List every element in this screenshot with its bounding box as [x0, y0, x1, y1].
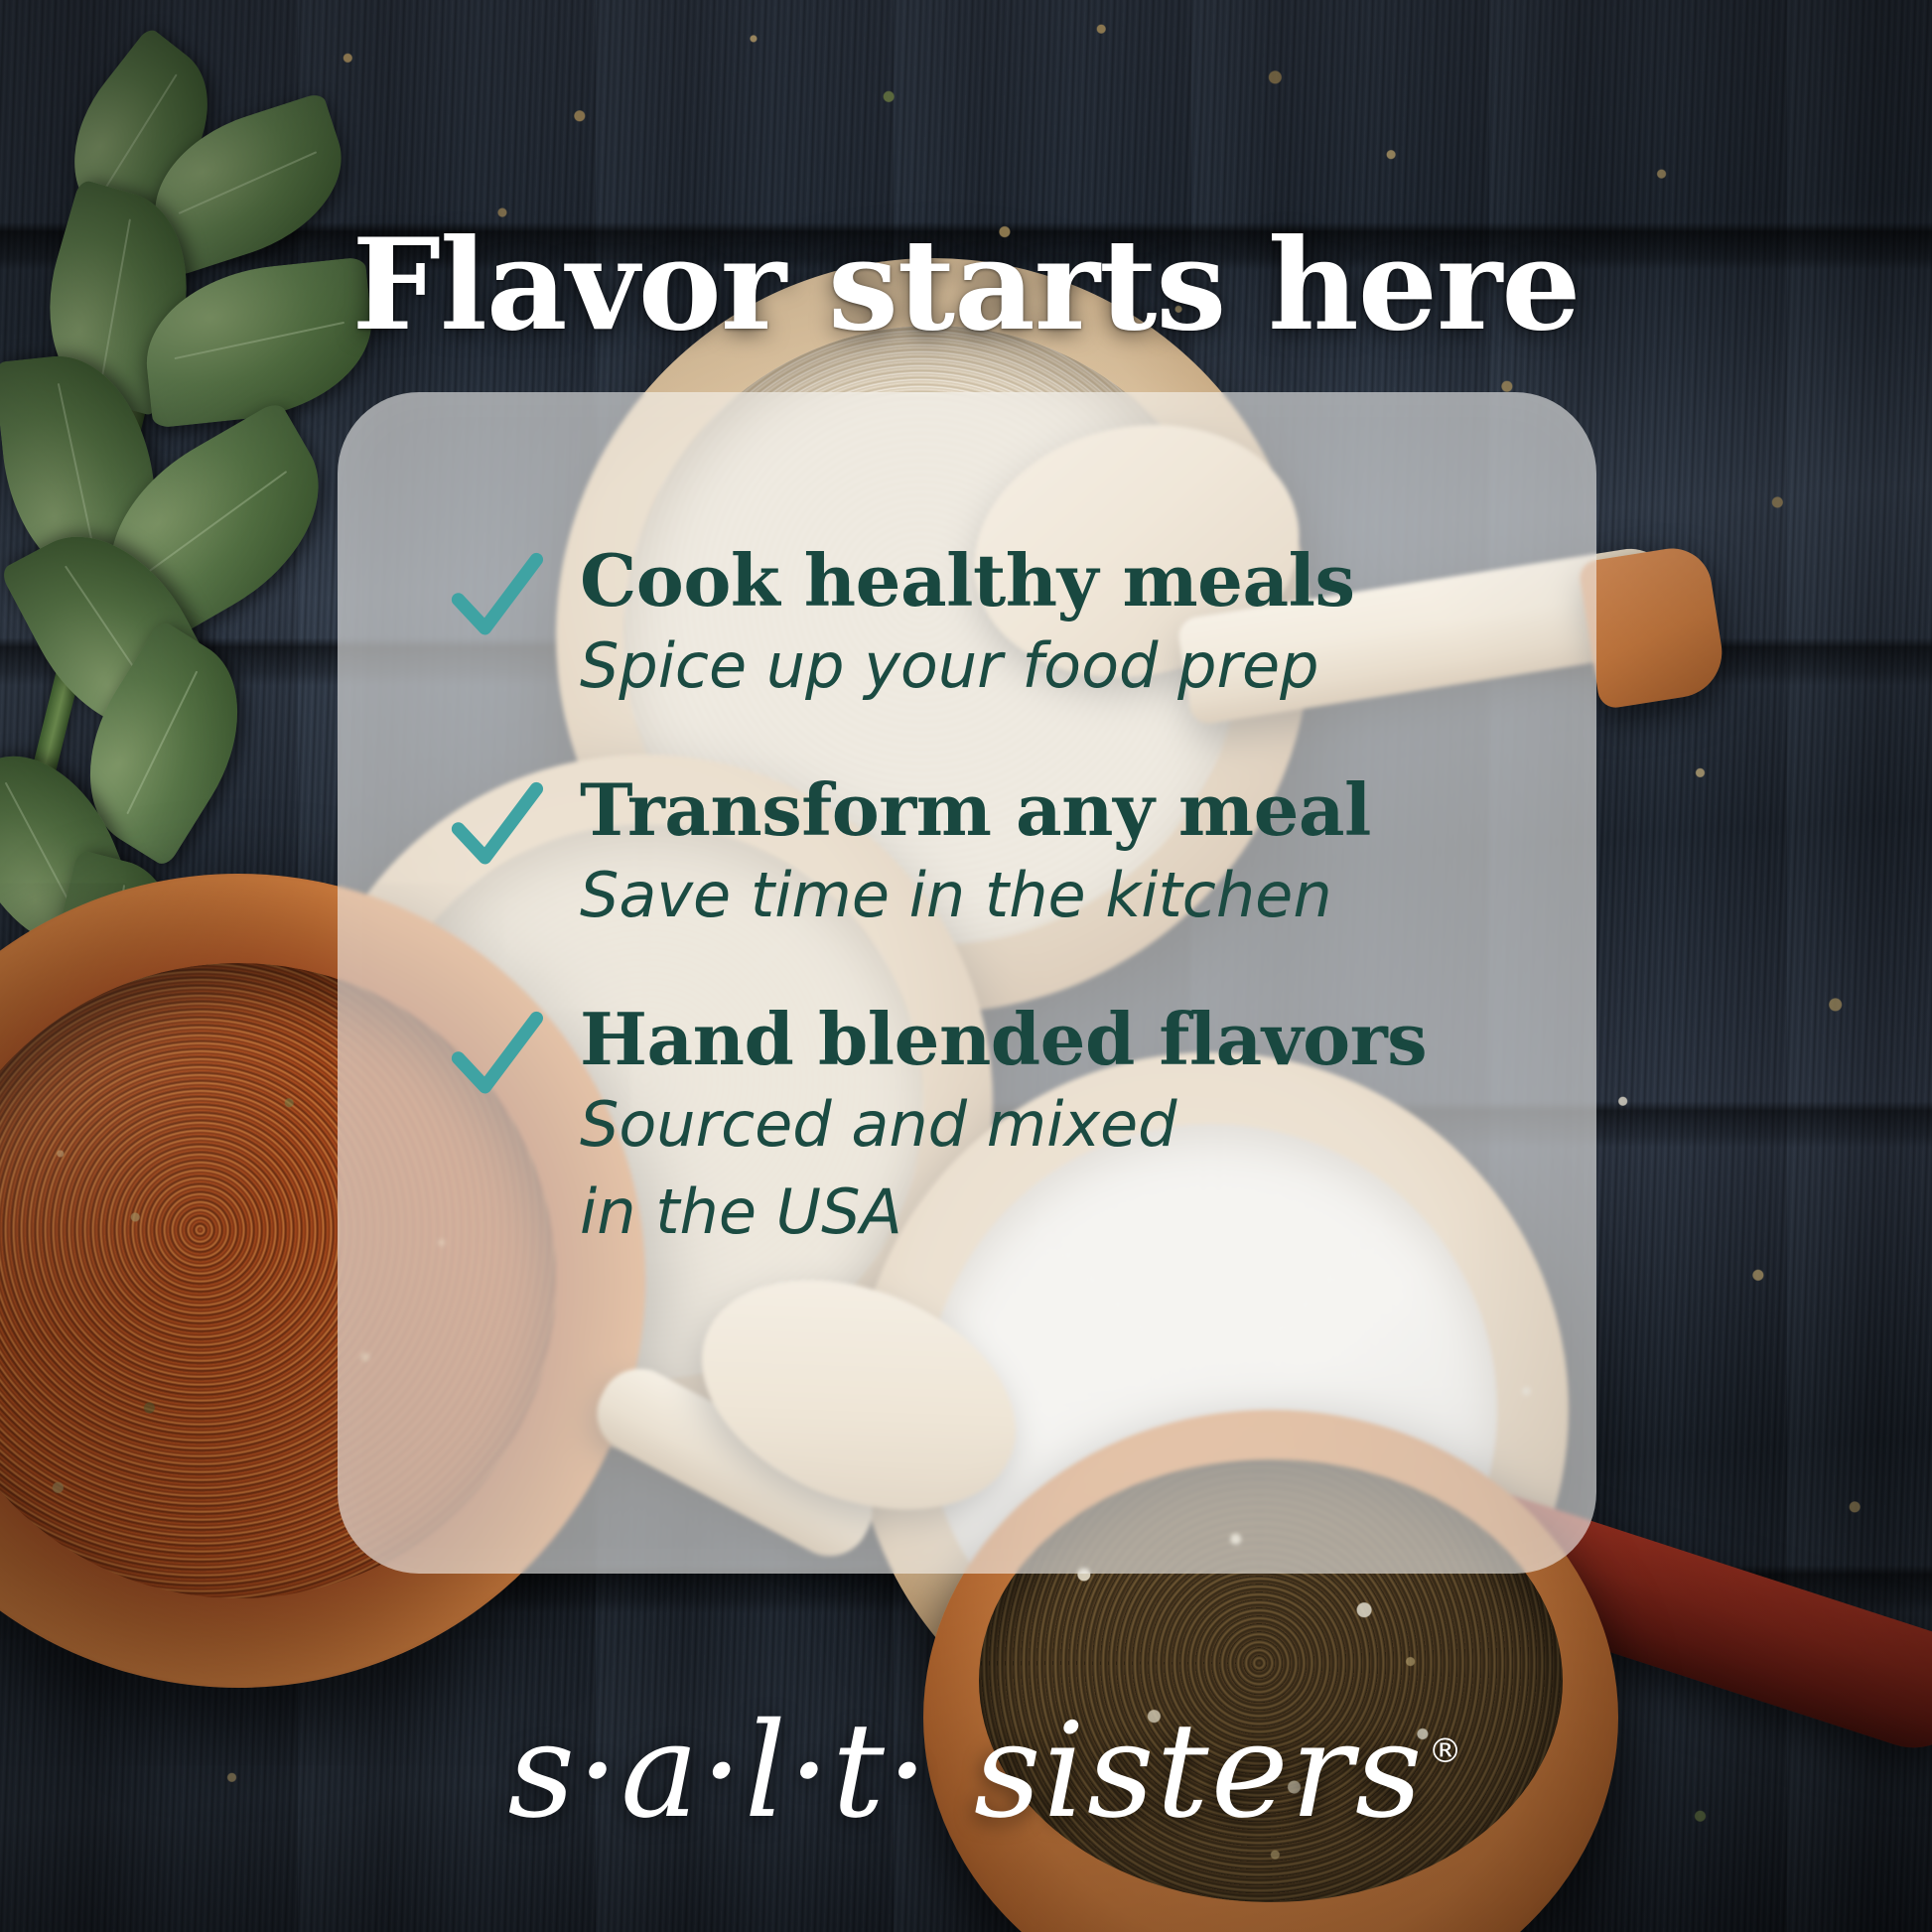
benefit-title: Transform any meal — [580, 773, 1521, 848]
brand-logo: s·a·l·t· sisters ® — [0, 1706, 1932, 1837]
benefits-list: Cook healthy meals Spice up your food pr… — [449, 544, 1521, 1256]
benefit-item: Hand blended flavors Sourced and mixed i… — [449, 1003, 1521, 1256]
benefit-title: Cook healthy meals — [580, 544, 1521, 619]
checkmark-icon — [449, 1009, 544, 1104]
promo-poster: Flavor starts here Cook healthy meals Sp… — [0, 0, 1932, 1932]
benefit-item: Cook healthy meals Spice up your food pr… — [449, 544, 1521, 710]
benefit-subtitle: Spice up your food prep — [580, 622, 1334, 710]
checkmark-icon — [449, 550, 544, 645]
benefit-subtitle: Sourced and mixed in the USA — [580, 1081, 1215, 1256]
benefit-item: Transform any meal Save time in the kitc… — [449, 773, 1521, 939]
registered-trademark-icon: ® — [1429, 1731, 1462, 1771]
page-title: Flavor starts here — [0, 222, 1932, 347]
checkmark-icon — [449, 779, 544, 875]
benefit-subtitle: Save time in the kitchen — [580, 852, 1334, 939]
benefit-title: Hand blended flavors — [580, 1003, 1521, 1077]
brand-logo-text: s·a·l·t· sisters — [507, 1695, 1424, 1848]
